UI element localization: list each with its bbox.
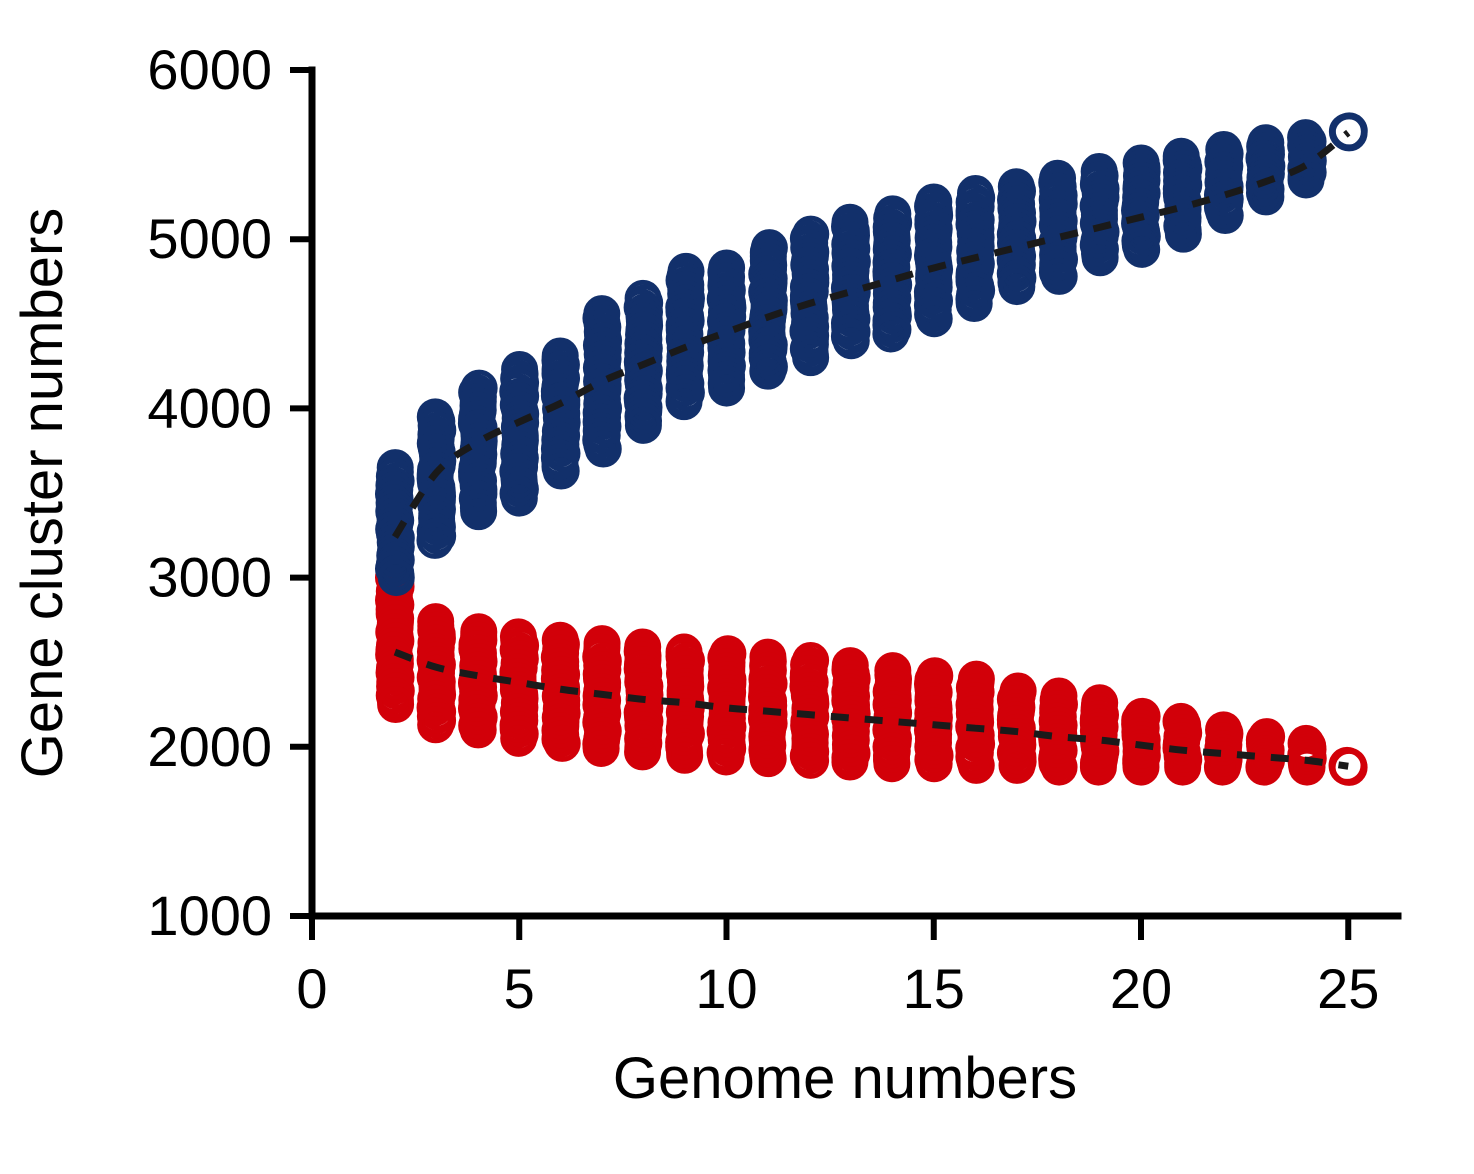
y-tick-label-6000: 6000 <box>147 38 272 101</box>
scatter-plot-canvas: 100020003000400050006000 0510152025 Geno… <box>0 0 1474 1174</box>
y-axis-title: Gene cluster numbers <box>10 208 75 779</box>
y-tick-label-4000: 4000 <box>147 376 272 439</box>
x-tick-label-0: 0 <box>296 957 327 1020</box>
x-tick-label-25: 25 <box>1317 957 1379 1020</box>
x-tick-label-5: 5 <box>504 957 535 1020</box>
y-tick-label-5000: 5000 <box>147 207 272 270</box>
y-tick-label-1000: 1000 <box>147 884 272 947</box>
chart-figure: 100020003000400050006000 0510152025 Geno… <box>0 0 1474 1174</box>
y-tick-label-2000: 2000 <box>147 715 272 778</box>
y-tick-label-3000: 3000 <box>147 546 272 609</box>
x-tick-label-10: 10 <box>695 957 757 1020</box>
x-tick-label-20: 20 <box>1110 957 1172 1020</box>
x-tick-label-15: 15 <box>903 957 965 1020</box>
x-axis-title: Genome numbers <box>613 1046 1077 1111</box>
